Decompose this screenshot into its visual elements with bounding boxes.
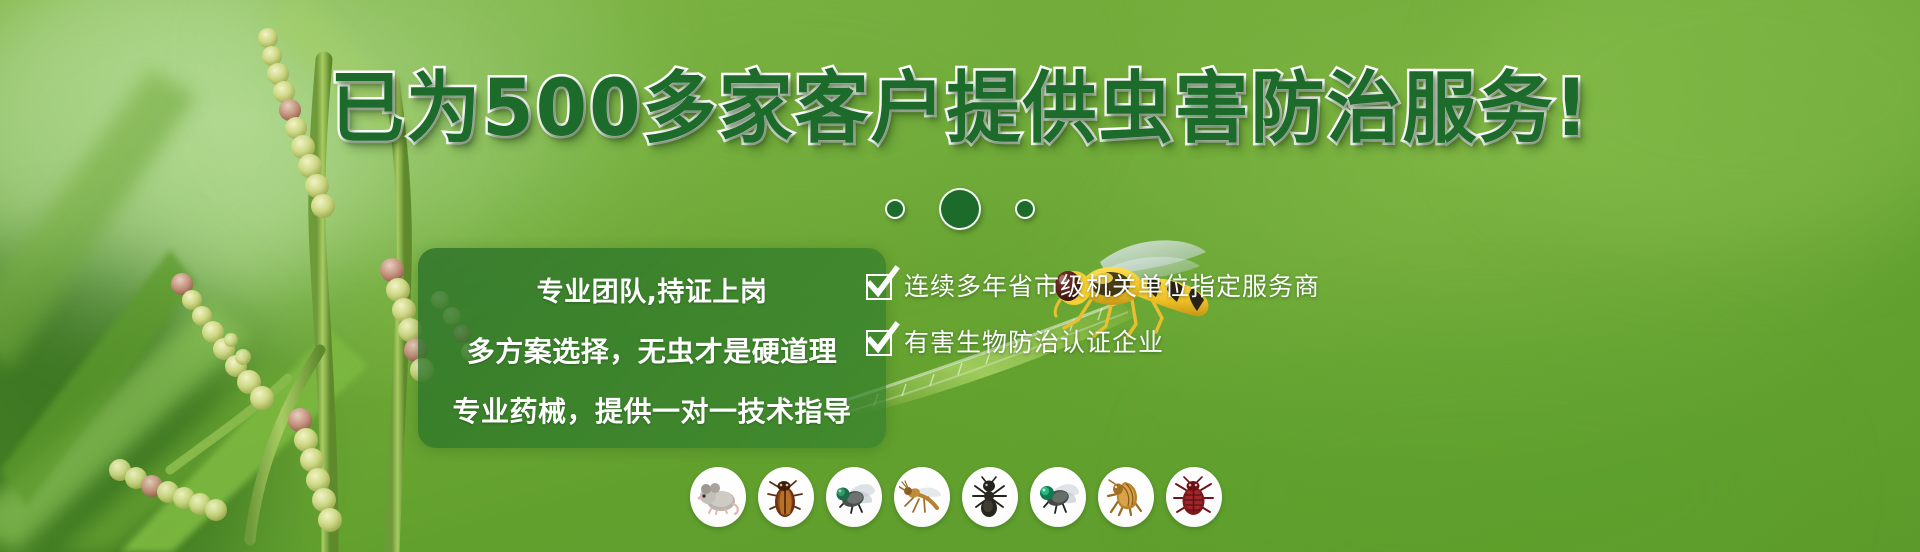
checklist-label: 有害生物防治认证企业 xyxy=(904,328,1164,358)
dot-large-center xyxy=(939,188,981,230)
headline-text: 已为500多家客户提供虫害防治服务! xyxy=(330,62,1590,156)
mosquito-icon xyxy=(899,474,945,520)
pest-icon-mosquito[interactable] xyxy=(894,467,950,527)
bokeh-blob-3 xyxy=(0,250,260,552)
pest-icon-flea[interactable] xyxy=(1098,467,1154,527)
dot-small-left xyxy=(885,199,905,219)
bedbug-icon xyxy=(1171,474,1217,520)
pest-icon-housefly[interactable] xyxy=(826,467,882,527)
cockroach-icon xyxy=(763,474,809,520)
pest-icon-blowfly[interactable] xyxy=(1030,467,1086,527)
mouse-icon xyxy=(695,474,741,520)
checklist-label: 连续多年省市级机关单位指定服务商 xyxy=(904,272,1320,302)
housefly-icon xyxy=(831,474,877,520)
panel-line-3: 专业药械，提供一对一技术指导 xyxy=(436,390,868,430)
pest-icon-mouse[interactable] xyxy=(690,467,746,527)
pest-icon-bedbug[interactable] xyxy=(1166,467,1222,527)
credentials-checklist: 连续多年省市级机关单位指定服务商 有害生物防治认证企业 xyxy=(866,272,1306,358)
panel-line-2: 多方案选择，无虫才是硬道理 xyxy=(436,330,868,370)
checkbox-checked-icon xyxy=(866,330,892,356)
dot-small-right xyxy=(1015,199,1035,219)
pest-icon-ant[interactable] xyxy=(962,467,1018,527)
banner-headline: 已为500多家客户提供虫害防治服务! xyxy=(0,62,1920,156)
pest-control-banner: 已为500多家客户提供虫害防治服务! 专业团队,持证上岗 多方案选择，无虫才是硬… xyxy=(0,0,1920,552)
pest-icon-cockroach[interactable] xyxy=(758,467,814,527)
checklist-item: 连续多年省市级机关单位指定服务商 xyxy=(866,272,1306,302)
flea-icon xyxy=(1103,474,1149,520)
panel-line-1: 专业团队,持证上岗 xyxy=(436,270,868,309)
selling-points-panel: 专业团队,持证上岗 多方案选择，无虫才是硬道理 专业药械，提供一对一技术指导 xyxy=(418,248,886,448)
bokeh-blob-1 xyxy=(0,0,360,320)
ant-icon xyxy=(967,474,1013,520)
checkbox-checked-icon xyxy=(866,274,892,300)
bokeh-blob-5 xyxy=(1180,330,1800,552)
blowfly-icon xyxy=(1035,474,1081,520)
checklist-item: 有害生物防治认证企业 xyxy=(866,328,1306,358)
pest-icon-strip xyxy=(690,467,1222,527)
decorative-dots xyxy=(0,188,1920,230)
